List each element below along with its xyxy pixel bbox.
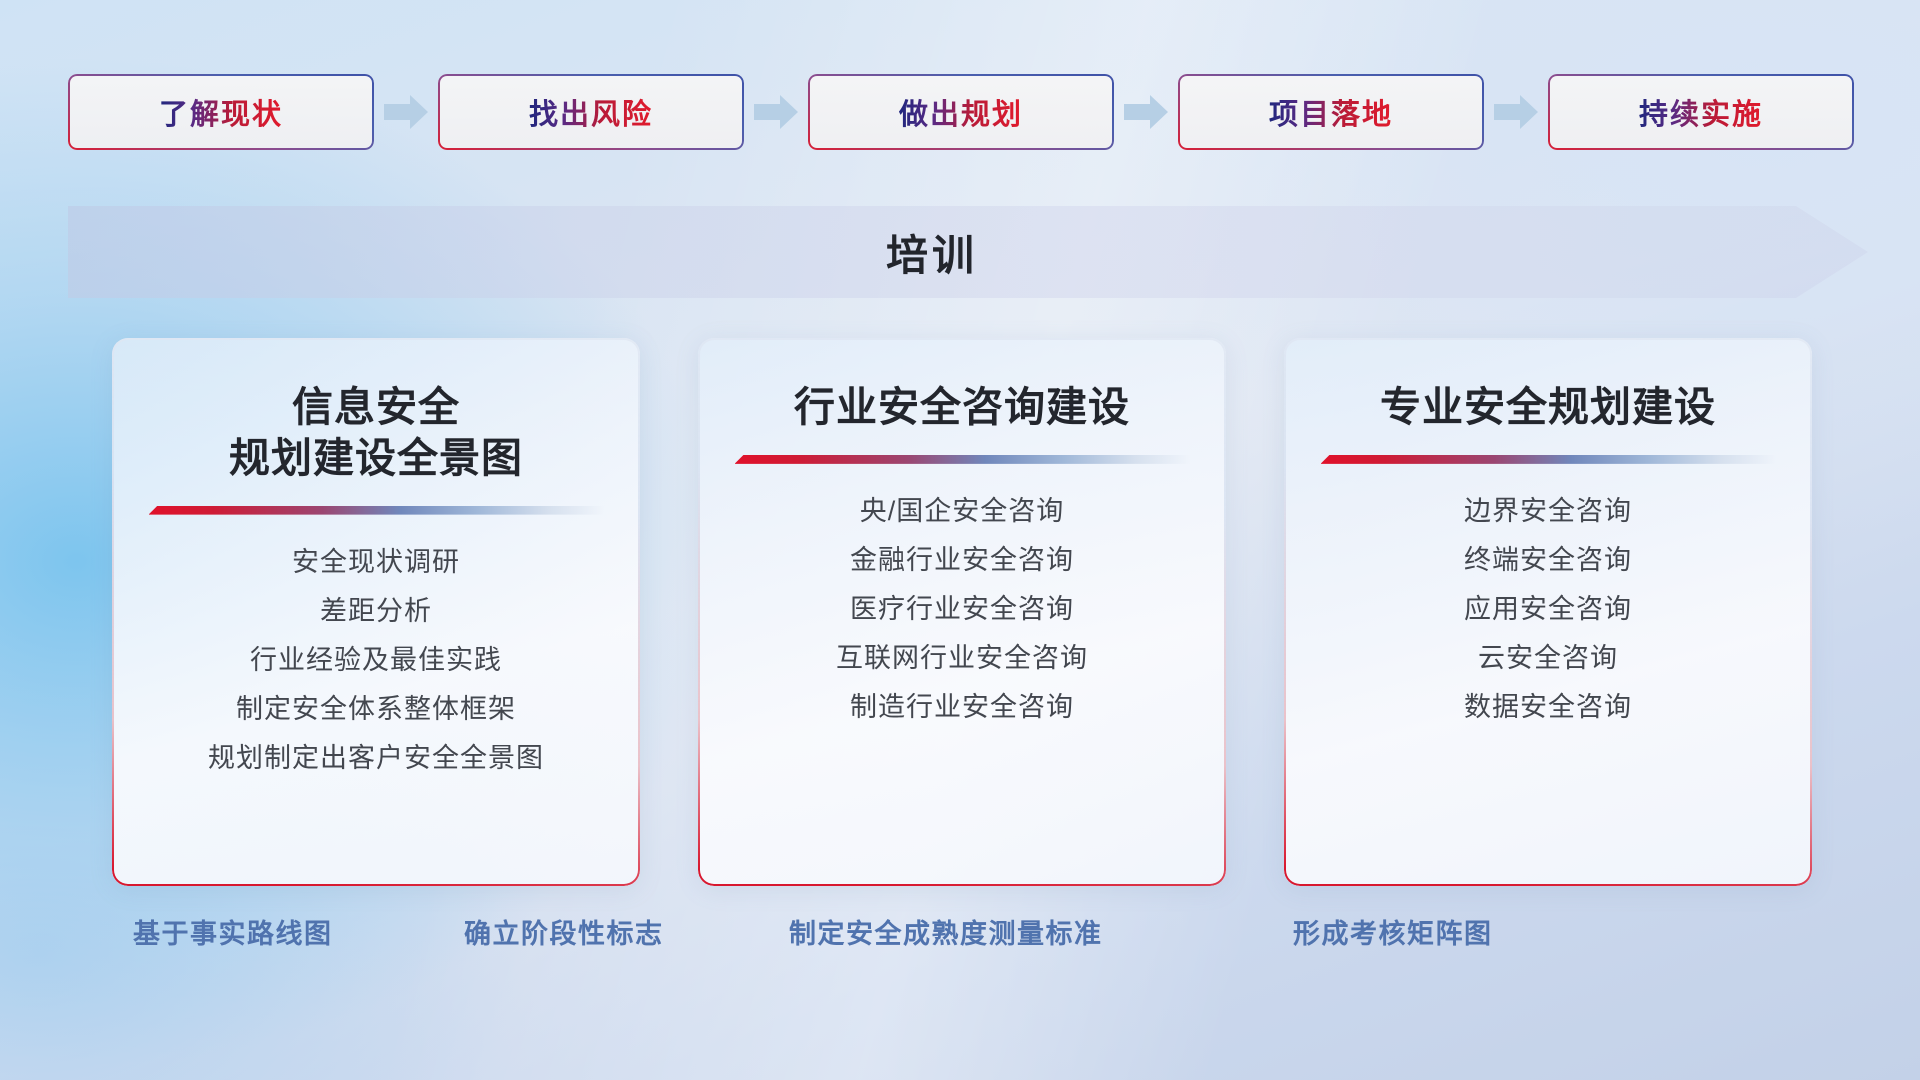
card-2-divider (735, 455, 1190, 464)
list-item: 应用安全咨询 (1464, 596, 1632, 623)
card-2-list: 央/国企安全咨询 金融行业安全咨询 医疗行业安全咨询 互联网行业安全咨询 制造行… (836, 498, 1088, 743)
list-item: 云安全咨询 (1464, 645, 1632, 672)
card-2[interactable]: 行业安全咨询建设 央/国企安全咨询 金融行业安全咨询 医疗行业安全咨询 互联网行… (698, 338, 1226, 886)
card-1[interactable]: 信息安全 规划建设全景图 安全现状调研 差距分析 行业经验及最佳实践 制定安全体… (112, 338, 640, 886)
list-item: 数据安全咨询 (1464, 694, 1632, 721)
step-arrow-2 (744, 95, 808, 129)
step-label-3: 做出规划 (899, 91, 1023, 133)
process-step-bar: 了解现状 找出风险 做出规划 项目落地 (68, 74, 1858, 150)
step-arrow-1 (374, 95, 438, 129)
card-1-list: 安全现状调研 差距分析 行业经验及最佳实践 制定安全体系整体框架 规划制定出客户… (208, 549, 544, 794)
step-box-5[interactable]: 持续实施 (1548, 74, 1854, 150)
step-label-5: 持续实施 (1639, 91, 1763, 133)
slide-canvas: 了解现状 找出风险 做出规划 项目落地 (0, 0, 1920, 1080)
list-item: 安全现状调研 (208, 549, 544, 576)
list-item: 医疗行业安全咨询 (836, 596, 1088, 623)
card-3-divider (1321, 455, 1776, 464)
card-row: 信息安全 规划建设全景图 安全现状调研 差距分析 行业经验及最佳实践 制定安全体… (112, 338, 1812, 886)
list-item: 互联网行业安全咨询 (836, 645, 1088, 672)
list-item: 差距分析 (208, 598, 544, 625)
training-banner: 培训 (68, 206, 1868, 298)
step-box-1[interactable]: 了解现状 (68, 74, 374, 150)
list-item: 央/国企安全咨询 (836, 498, 1088, 525)
list-item: 制造行业安全咨询 (836, 694, 1088, 721)
card-3-list: 边界安全咨询 终端安全咨询 应用安全咨询 云安全咨询 数据安全咨询 (1464, 498, 1632, 743)
step-arrow-3 (1114, 95, 1178, 129)
step-box-3[interactable]: 做出规划 (808, 74, 1114, 150)
footer-label-row: 基于事实路线图 确立阶段性标志 制定安全成熟度测量标准 形成考核矩阵图 (0, 912, 1920, 960)
list-item: 行业经验及最佳实践 (208, 647, 544, 674)
card-3-title: 专业安全规划建设 (1380, 382, 1716, 433)
list-item: 终端安全咨询 (1464, 547, 1632, 574)
step-box-2[interactable]: 找出风险 (438, 74, 744, 150)
list-item: 金融行业安全咨询 (836, 547, 1088, 574)
footer-label-3: 制定安全成熟度测量标准 (789, 912, 1103, 951)
footer-label-4: 形成考核矩阵图 (1293, 912, 1493, 951)
card-1-title: 信息安全 规划建设全景图 (229, 382, 523, 484)
list-item: 边界安全咨询 (1464, 498, 1632, 525)
list-item: 制定安全体系整体框架 (208, 696, 544, 723)
step-box-4[interactable]: 项目落地 (1178, 74, 1484, 150)
footer-label-1: 基于事实路线图 (133, 912, 333, 951)
step-label-1: 了解现状 (159, 91, 283, 133)
step-label-2: 找出风险 (529, 91, 653, 133)
banner-title: 培训 (68, 206, 1868, 298)
card-1-divider (149, 506, 604, 515)
step-arrow-4 (1484, 95, 1548, 129)
card-2-title: 行业安全咨询建设 (794, 382, 1130, 433)
card-3[interactable]: 专业安全规划建设 边界安全咨询 终端安全咨询 应用安全咨询 云安全咨询 数据安全… (1284, 338, 1812, 886)
footer-label-2: 确立阶段性标志 (464, 912, 664, 951)
step-label-4: 项目落地 (1269, 91, 1393, 133)
list-item: 规划制定出客户安全全景图 (208, 745, 544, 772)
